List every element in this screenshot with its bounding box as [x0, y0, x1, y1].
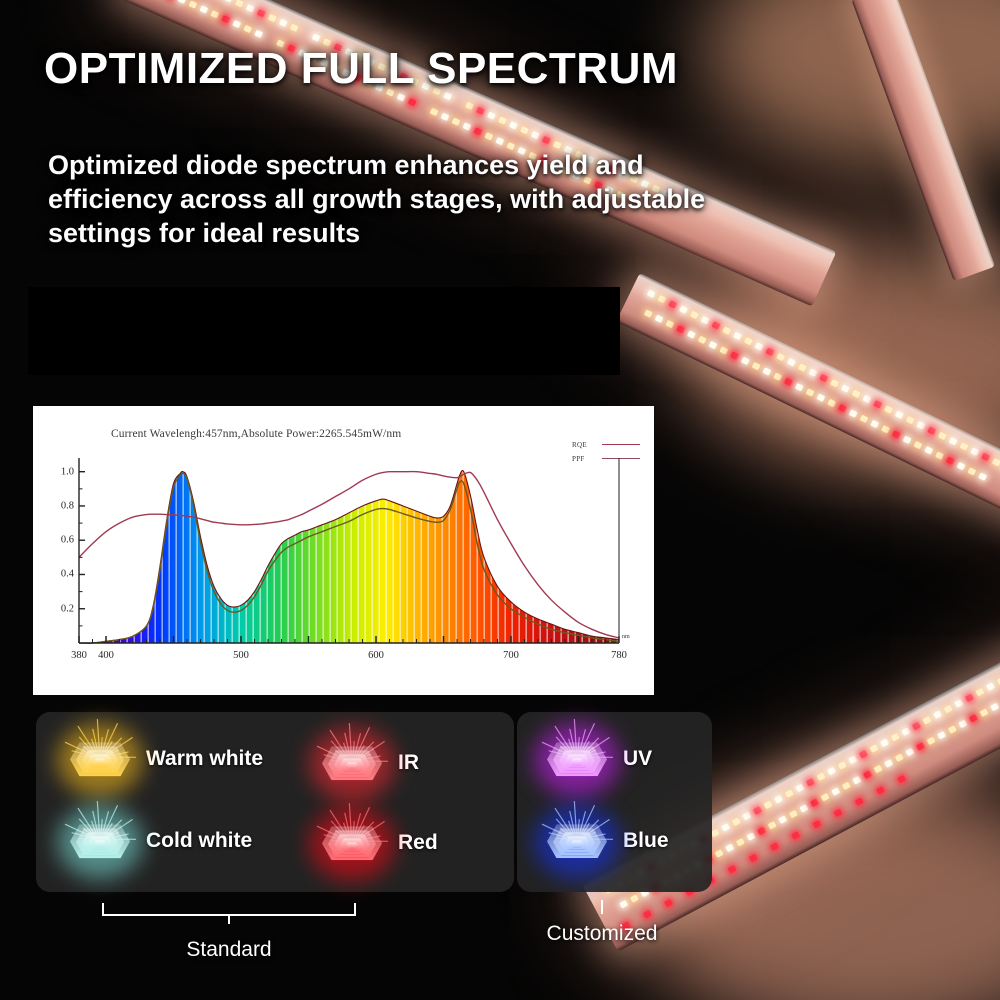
diode-item-uv: UV	[541, 730, 652, 788]
x-tick-label: 380	[71, 650, 87, 661]
diode-body	[322, 826, 382, 864]
legend-swatch	[602, 444, 640, 445]
y-tick-label: 0.2	[61, 603, 74, 614]
x-tick-label: 400	[98, 650, 114, 661]
diode-body	[70, 824, 130, 862]
diode-label: Blue	[623, 829, 669, 853]
legend-item-rqe: RQE	[572, 439, 640, 450]
legend-label: RQE	[572, 441, 594, 449]
spectrum-stripes	[79, 458, 619, 643]
spectrum-chart-card: Current Wavelengh:457nm,Absolute Power:2…	[33, 406, 654, 695]
diode-body	[322, 746, 382, 784]
diode-body	[547, 742, 607, 780]
x-tick-label: 780	[611, 650, 627, 661]
diode-item-red: Red	[316, 814, 438, 872]
diode-label: Cold white	[146, 829, 252, 853]
diode-item-warm-white: Warm white	[64, 730, 263, 788]
uv-diode-icon	[541, 730, 613, 788]
diode-item-blue: Blue	[541, 812, 669, 870]
ir-diode-icon	[316, 734, 388, 792]
page-title: OPTIMIZED FULL SPECTRUM	[44, 44, 678, 94]
standard-group-bracket	[102, 903, 356, 916]
x-axis-unit-label: nm	[622, 634, 630, 640]
red-diode-icon	[316, 814, 388, 872]
standard-diodes-panel: Warm white Cold white IR Red	[36, 712, 514, 892]
customized-caption: Customized	[547, 922, 658, 946]
diode-item-ir: IR	[316, 734, 419, 792]
chart-svg	[79, 458, 619, 643]
chart-plot-area: 0.20.40.60.81.0 380400500600700780 nm	[79, 458, 619, 643]
blue-diode-icon	[541, 812, 613, 870]
y-tick-label: 0.6	[61, 535, 74, 546]
diode-body	[70, 742, 130, 780]
y-tick-label: 1.0	[61, 466, 74, 477]
diode-label: Warm white	[146, 747, 263, 771]
warm-white-diode-icon	[64, 730, 136, 788]
cold-white-diode-icon	[64, 812, 136, 870]
customized-group-tick	[601, 900, 603, 914]
diode-body	[547, 824, 607, 862]
y-tick-label: 0.8	[61, 500, 74, 511]
chart-title: Current Wavelengh:457nm,Absolute Power:2…	[111, 428, 401, 440]
led-glow	[700, 0, 1000, 170]
x-tick-label: 700	[503, 650, 519, 661]
diode-label: IR	[398, 751, 419, 775]
diode-label: Red	[398, 831, 438, 855]
y-tick-label: 0.4	[61, 569, 74, 580]
diode-label: UV	[623, 747, 652, 771]
page-subtitle: Optimized diode spectrum enhances yield …	[48, 148, 748, 250]
y-axis-ticks	[79, 472, 85, 626]
x-tick-label: 500	[233, 650, 249, 661]
standard-caption: Standard	[186, 938, 271, 962]
x-tick-label: 600	[368, 650, 384, 661]
blank-black-bar	[28, 287, 620, 375]
diode-item-cold-white: Cold white	[64, 812, 252, 870]
customized-diodes-panel: UV Blue	[517, 712, 712, 892]
